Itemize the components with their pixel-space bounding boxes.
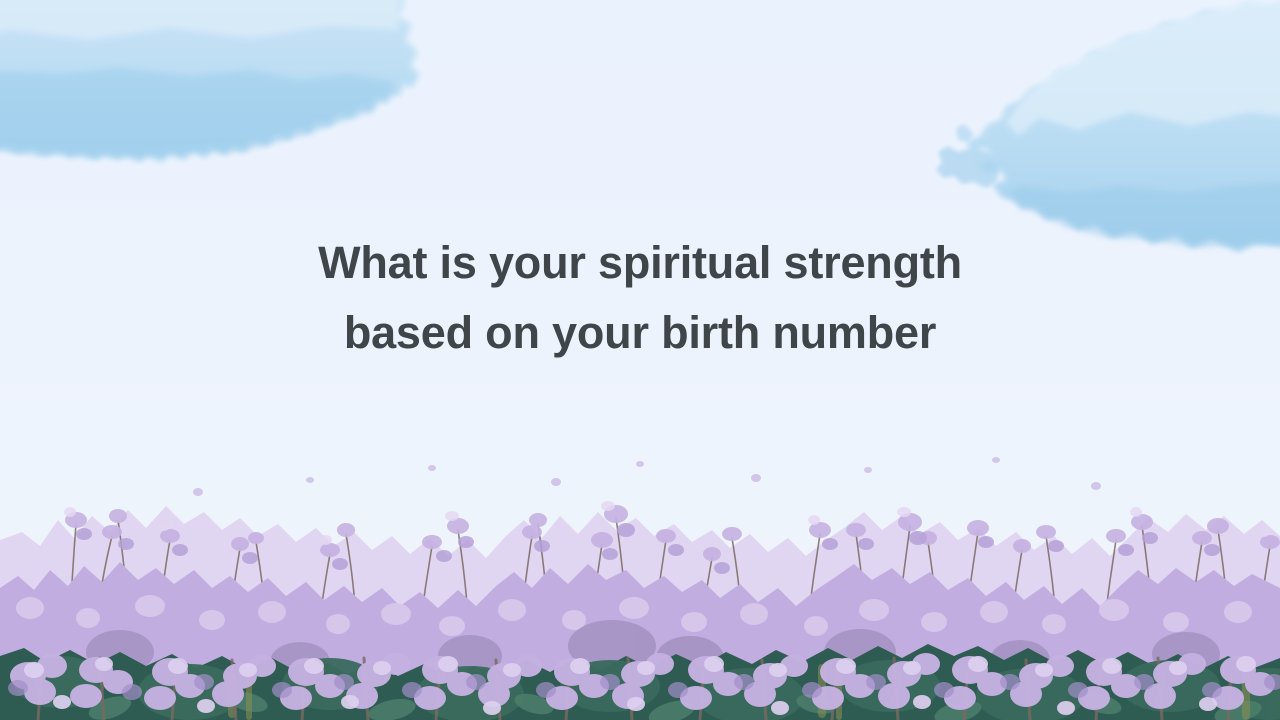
headline-line-1: What is your spiritual strength bbox=[0, 228, 1280, 298]
headline-line-2: based on your birth number bbox=[0, 298, 1280, 368]
page-title: What is your spiritual strength based on… bbox=[0, 228, 1280, 368]
slide-canvas: What is your spiritual strength based on… bbox=[0, 0, 1280, 720]
